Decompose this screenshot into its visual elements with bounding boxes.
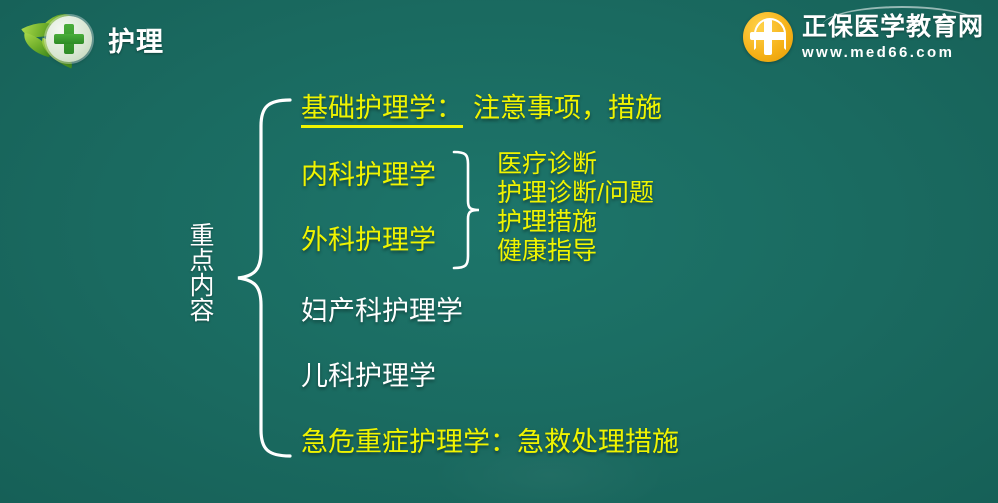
cross-glyph — [54, 24, 84, 54]
branch-erke-huli: 儿科护理学 — [301, 362, 436, 392]
leaf-icon — [22, 10, 100, 68]
brand-right-title: 正保医学教育网 — [802, 15, 984, 40]
branch-neike-huli: 内科护理学 — [301, 161, 436, 191]
branch-jichu-huli: 基础护理学：注意事项，措施 — [301, 94, 662, 124]
brand-right-url: www.med66.com — [802, 45, 984, 60]
grouped-items-list: 医疗诊断 护理诊断/问题 护理措施 健康指导 — [497, 150, 654, 266]
branch-jichu-rest: 注意事项，措施 — [463, 93, 662, 123]
grouped-item-huli-zhenduan: 护理诊断/问题 — [497, 179, 654, 208]
medical-cross-icon — [46, 16, 92, 62]
brand-right[interactable]: 正保医学教育网 www.med66.com — [743, 6, 984, 68]
branch-waike-huli: 外科护理学 — [301, 226, 436, 256]
gold-cross-circle-icon — [743, 12, 793, 62]
branch-jiweizhong-huli: 急危重症护理学：急救处理措施 — [301, 428, 679, 458]
branch-fuchanke-huli: 妇产科护理学 — [301, 297, 463, 327]
grouped-item-jiankang-zhidao: 健康指导 — [497, 237, 654, 266]
brand-right-text: 正保医学教育网 www.med66.com — [802, 15, 984, 60]
brand-left: 护理 — [22, 8, 182, 70]
main-brace-icon — [228, 96, 300, 460]
cross-bar-horizontal — [54, 34, 84, 44]
logo-bar-horizontal — [750, 32, 786, 40]
grouped-item-yiliao-zhenduan: 医疗诊断 — [497, 150, 654, 179]
slide-canvas: 护理 正保医学教育网 www.med66.com 重点内容 基础护理学：注意事项… — [0, 0, 998, 503]
diagram-root-label: 重点内容 — [178, 222, 214, 322]
grouped-item-huli-cuoshi: 护理措施 — [497, 208, 654, 237]
brand-left-label: 护理 — [108, 20, 164, 59]
branch-jichu-underlined: 基础护理学： — [301, 93, 463, 128]
group-brace-icon — [446, 148, 486, 272]
